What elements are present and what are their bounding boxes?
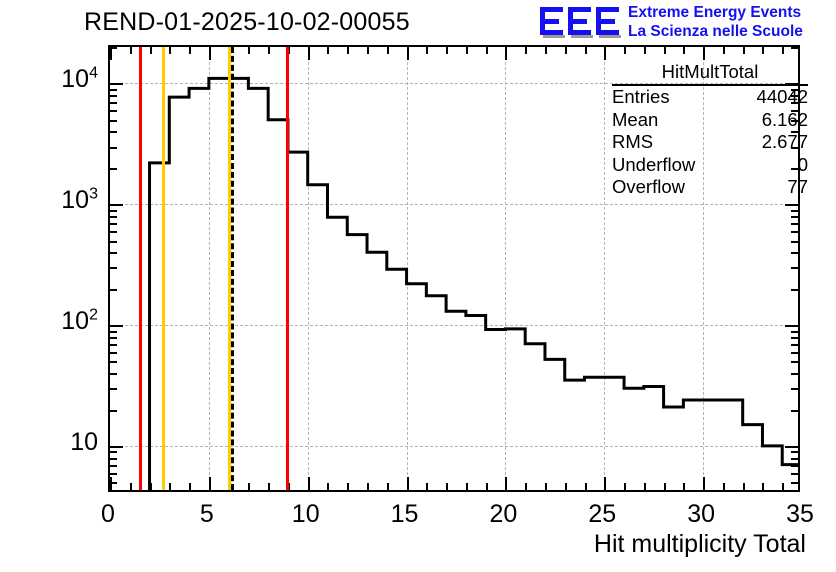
stats-row: Entries44042 bbox=[612, 86, 808, 109]
x-axis-tick bbox=[209, 477, 211, 490]
y-axis-tick bbox=[110, 168, 117, 170]
x-tick-label: 20 bbox=[463, 500, 543, 529]
x-axis-tick bbox=[545, 483, 547, 490]
stats-row: Mean6.162 bbox=[612, 109, 808, 132]
x-axis-tick bbox=[426, 47, 428, 54]
y-axis-tick bbox=[791, 373, 798, 375]
stats-row-key: Underflow bbox=[612, 154, 695, 177]
x-axis-tick bbox=[782, 47, 784, 54]
stats-box-title: HitMultTotal bbox=[612, 61, 808, 86]
x-axis-tick bbox=[565, 483, 567, 490]
x-axis-tick bbox=[130, 483, 132, 490]
marker-line-low-red-cut bbox=[139, 47, 142, 490]
y-axis-tick bbox=[791, 458, 798, 460]
x-axis-tick bbox=[604, 47, 606, 60]
stats-row-key: Entries bbox=[612, 86, 670, 109]
x-tick-label: 15 bbox=[365, 500, 445, 529]
y-axis-tick bbox=[785, 446, 798, 448]
y-axis-tick bbox=[110, 361, 117, 363]
stats-row-key: Mean bbox=[612, 109, 658, 132]
x-axis-tick bbox=[446, 483, 448, 490]
x-axis-tick bbox=[565, 47, 567, 54]
y-axis-tick bbox=[791, 47, 798, 49]
stats-row-value: 6.162 bbox=[762, 109, 808, 132]
y-tick-label: 104 bbox=[0, 65, 98, 94]
y-axis-tick bbox=[110, 120, 117, 122]
x-axis-tick bbox=[683, 47, 685, 54]
y-gridline bbox=[110, 325, 798, 326]
y-gridline bbox=[110, 446, 798, 447]
x-gridline bbox=[604, 47, 605, 490]
x-axis-tick bbox=[683, 483, 685, 490]
x-axis-tick bbox=[347, 47, 349, 54]
marker-line-mean-dashed bbox=[231, 47, 234, 490]
stats-row-value: 77 bbox=[787, 176, 808, 199]
y-tick-label: 103 bbox=[0, 186, 98, 215]
y-axis-tick bbox=[110, 231, 117, 233]
y-axis-tick bbox=[110, 344, 117, 346]
x-axis-tick bbox=[189, 483, 191, 490]
x-axis-tick bbox=[782, 483, 784, 490]
x-axis-tick bbox=[110, 477, 112, 490]
y-axis-tick bbox=[791, 465, 798, 467]
x-gridline bbox=[209, 47, 210, 490]
y-axis-tick bbox=[110, 289, 117, 291]
y-axis-tick bbox=[791, 451, 798, 453]
x-axis-tick bbox=[288, 47, 290, 54]
x-axis-tick bbox=[387, 483, 389, 490]
x-axis-tick bbox=[486, 47, 488, 54]
x-axis-tick bbox=[466, 483, 468, 490]
y-axis-tick bbox=[110, 131, 117, 133]
y-axis-tick bbox=[110, 89, 117, 91]
x-gridline bbox=[308, 47, 309, 490]
histogram-page: REND-01-2025-10-02-00055 bbox=[0, 0, 836, 572]
x-gridline bbox=[407, 47, 408, 490]
x-axis-tick bbox=[703, 47, 705, 60]
x-axis-tick bbox=[229, 483, 231, 490]
x-axis-tick bbox=[169, 483, 171, 490]
y-axis-tick bbox=[110, 252, 117, 254]
stats-row-key: RMS bbox=[612, 131, 653, 154]
x-axis-tick bbox=[327, 483, 329, 490]
stats-box-rows: Entries44042Mean6.162RMS2.677Underflow0O… bbox=[612, 86, 808, 199]
x-axis-tick bbox=[288, 483, 290, 490]
y-axis-tick bbox=[110, 95, 117, 97]
x-axis-tick bbox=[545, 47, 547, 54]
x-axis-tick bbox=[150, 47, 152, 54]
y-axis-tick bbox=[791, 410, 798, 412]
eee-logo-line2: La Scienza nelle Scuole bbox=[628, 23, 836, 42]
x-axis-tick bbox=[407, 47, 409, 60]
x-axis-tick bbox=[169, 47, 171, 54]
eee-logo: Extreme Energy Events La Scienza nelle S… bbox=[540, 4, 832, 42]
y-axis-tick bbox=[791, 231, 798, 233]
x-axis-tick bbox=[624, 483, 626, 490]
y-axis-tick bbox=[791, 223, 798, 225]
y-axis-tick bbox=[791, 482, 798, 484]
x-axis-tick bbox=[762, 483, 764, 490]
x-axis-tick bbox=[644, 483, 646, 490]
y-axis-tick bbox=[791, 241, 798, 243]
x-axis-tick bbox=[426, 483, 428, 490]
y-axis-tick bbox=[791, 473, 798, 475]
x-axis-tick bbox=[505, 477, 507, 490]
x-axis-tick bbox=[664, 47, 666, 54]
x-tick-label: 25 bbox=[562, 500, 642, 529]
x-axis-tick bbox=[209, 47, 211, 60]
y-axis-tick bbox=[110, 223, 117, 225]
x-axis-tick bbox=[743, 483, 745, 490]
stats-box: HitMultTotal Entries44042Mean6.162RMS2.6… bbox=[612, 61, 808, 199]
y-axis-tick bbox=[110, 83, 123, 85]
y-axis-tick bbox=[791, 252, 798, 254]
y-axis-tick bbox=[110, 482, 117, 484]
x-axis-tick bbox=[446, 47, 448, 54]
y-axis-tick bbox=[791, 344, 798, 346]
x-axis-tick bbox=[762, 47, 764, 54]
x-axis-tick bbox=[585, 483, 587, 490]
marker-line-low-yellow-cut bbox=[162, 47, 165, 490]
x-axis-tick bbox=[248, 47, 250, 54]
y-axis-tick bbox=[791, 352, 798, 354]
y-axis-tick bbox=[110, 110, 117, 112]
y-axis-tick bbox=[791, 267, 798, 269]
x-gridline bbox=[505, 47, 506, 490]
x-axis-tick bbox=[387, 47, 389, 54]
y-axis-tick bbox=[110, 102, 117, 104]
x-axis-tick bbox=[268, 483, 270, 490]
x-axis-tick bbox=[248, 483, 250, 490]
x-axis-tick bbox=[723, 47, 725, 54]
y-axis-tick bbox=[110, 473, 117, 475]
y-axis-tick bbox=[791, 337, 798, 339]
x-axis-tick bbox=[466, 47, 468, 54]
y-axis-tick bbox=[110, 410, 117, 412]
y-tick-label: 10 bbox=[0, 428, 98, 457]
x-axis-tick bbox=[525, 47, 527, 54]
eee-logo-mark bbox=[540, 5, 622, 39]
x-axis-tick bbox=[110, 47, 112, 60]
x-axis-tick bbox=[644, 47, 646, 54]
x-tick-label: 5 bbox=[167, 500, 247, 529]
y-axis-tick bbox=[110, 204, 123, 206]
y-tick-label: 102 bbox=[0, 307, 98, 336]
x-axis-tick bbox=[367, 47, 369, 54]
stats-row-value: 2.677 bbox=[762, 131, 808, 154]
x-axis-tick bbox=[664, 483, 666, 490]
stats-row-key: Overflow bbox=[612, 176, 685, 199]
x-axis-tick bbox=[743, 47, 745, 54]
x-axis-tick bbox=[505, 47, 507, 60]
x-axis-tick bbox=[585, 47, 587, 54]
eee-logo-text: Extreme Energy Events La Scienza nelle S… bbox=[628, 4, 836, 42]
y-gridline bbox=[110, 204, 798, 205]
x-axis-tick bbox=[723, 483, 725, 490]
y-axis-tick bbox=[110, 337, 117, 339]
y-axis-tick bbox=[110, 47, 117, 49]
y-axis-tick bbox=[791, 210, 798, 212]
x-axis-tick bbox=[367, 483, 369, 490]
stats-row-value: 44042 bbox=[757, 86, 808, 109]
x-axis-tick bbox=[347, 483, 349, 490]
x-axis-tick bbox=[308, 477, 310, 490]
y-axis-tick bbox=[110, 241, 117, 243]
x-axis-title: Hit multiplicity Total bbox=[594, 530, 806, 559]
y-axis-tick bbox=[110, 458, 117, 460]
x-axis-tick bbox=[624, 47, 626, 54]
y-axis-tick bbox=[791, 289, 798, 291]
x-tick-label: 35 bbox=[760, 500, 836, 529]
y-axis-tick bbox=[110, 451, 117, 453]
x-tick-label: 0 bbox=[68, 500, 148, 529]
y-axis-tick bbox=[110, 325, 123, 327]
stats-row: Overflow77 bbox=[612, 176, 808, 199]
x-axis-tick bbox=[130, 47, 132, 54]
stats-row-value: 0 bbox=[798, 154, 808, 177]
y-axis-tick bbox=[110, 210, 117, 212]
eee-logo-line1: Extreme Energy Events bbox=[628, 4, 836, 23]
y-axis-tick bbox=[791, 216, 798, 218]
y-axis-tick bbox=[110, 465, 117, 467]
page-title: REND-01-2025-10-02-00055 bbox=[84, 8, 410, 37]
x-axis-tick bbox=[407, 477, 409, 490]
stats-row: Underflow0 bbox=[612, 154, 808, 177]
x-axis-tick bbox=[525, 483, 527, 490]
y-axis-tick bbox=[110, 446, 123, 448]
y-axis-tick bbox=[791, 388, 798, 390]
x-axis-tick bbox=[604, 477, 606, 490]
marker-line-high-red-cut bbox=[286, 47, 289, 490]
y-axis-tick bbox=[110, 331, 117, 333]
y-axis-tick bbox=[110, 373, 117, 375]
y-axis-tick bbox=[791, 361, 798, 363]
x-axis-tick bbox=[189, 47, 191, 54]
x-axis-tick bbox=[268, 47, 270, 54]
y-axis-tick bbox=[110, 267, 117, 269]
y-axis-tick bbox=[110, 352, 117, 354]
y-axis-tick bbox=[110, 147, 117, 149]
stats-row: RMS2.677 bbox=[612, 131, 808, 154]
x-axis-tick bbox=[486, 483, 488, 490]
y-axis-tick bbox=[785, 325, 798, 327]
y-axis-tick bbox=[791, 331, 798, 333]
y-axis-tick bbox=[110, 388, 117, 390]
x-axis-tick bbox=[308, 47, 310, 60]
x-axis-tick bbox=[703, 477, 705, 490]
x-axis-tick bbox=[229, 47, 231, 54]
y-axis-tick bbox=[785, 204, 798, 206]
x-tick-label: 10 bbox=[266, 500, 346, 529]
marker-line-mean-yellow bbox=[228, 47, 231, 490]
x-axis-tick bbox=[327, 47, 329, 54]
y-axis-tick bbox=[110, 216, 117, 218]
x-tick-label: 30 bbox=[661, 500, 741, 529]
x-axis-tick bbox=[150, 483, 152, 490]
